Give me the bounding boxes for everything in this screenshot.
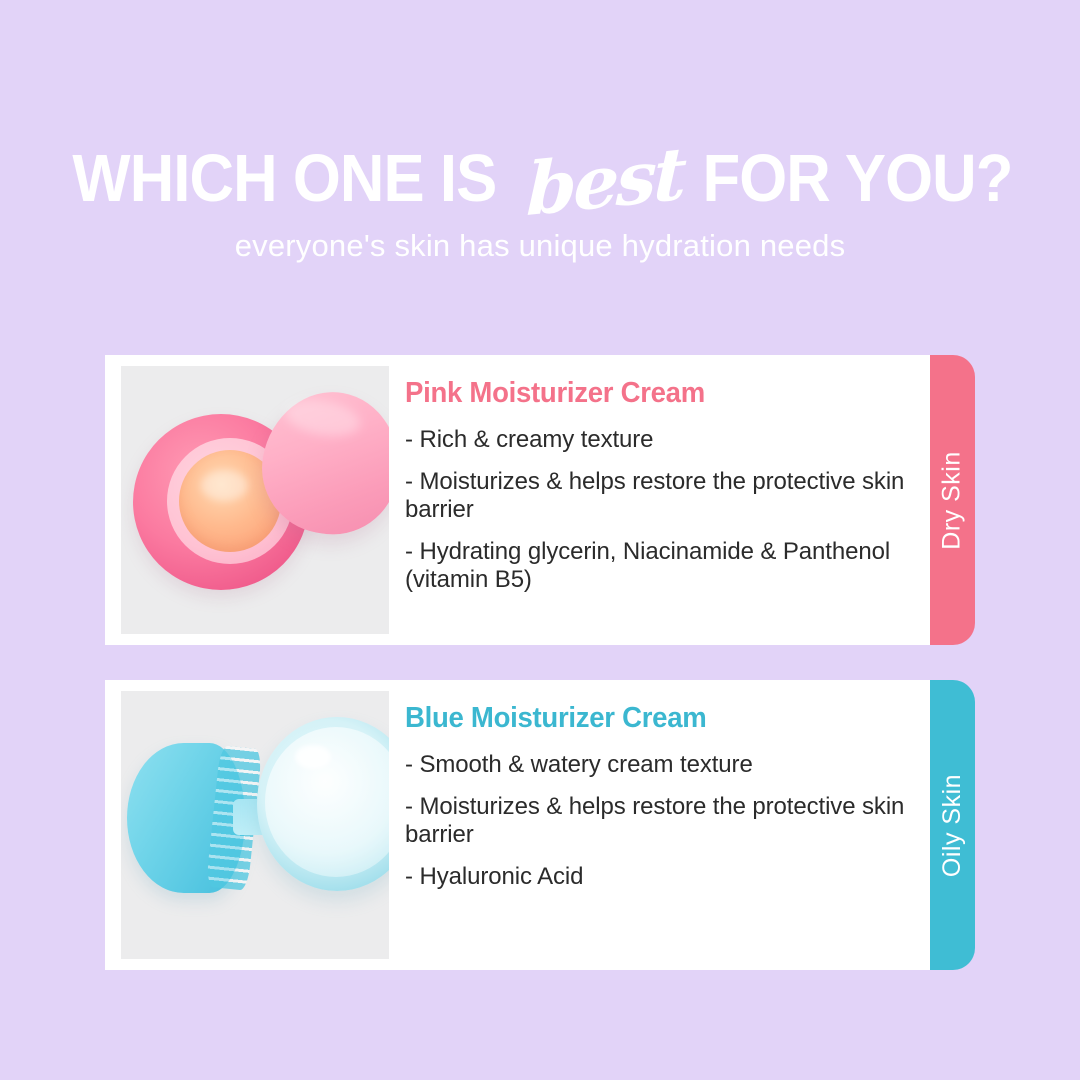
product-bullet: - Moisturizes & helps restore the protec… xyxy=(405,793,910,849)
page-headline: WHICH ONE ISbestFOR YOU? xyxy=(0,140,1080,212)
card-content: Pink Moisturizer Cream - Rich & creamy t… xyxy=(389,355,930,608)
skin-type-tab-label: Dry Skin xyxy=(938,451,967,549)
skin-type-tab-dry: Dry Skin xyxy=(930,355,975,645)
product-card-blue: Blue Moisturizer Cream - Smooth & watery… xyxy=(105,680,975,970)
headline-part-two: FOR YOU? xyxy=(702,145,1012,212)
product-bullet: - Smooth & watery cream texture xyxy=(405,751,910,779)
headline-part-one: WHICH ONE IS xyxy=(73,145,497,212)
product-title: Blue Moisturizer Cream xyxy=(405,702,885,735)
product-bullet: - Hyaluronic Acid xyxy=(405,863,910,891)
product-bullet: - Rich & creamy texture xyxy=(405,426,910,454)
card-content: Blue Moisturizer Cream - Smooth & watery… xyxy=(389,680,930,905)
product-title: Pink Moisturizer Cream xyxy=(405,377,885,410)
blue-jar-open xyxy=(257,717,389,891)
page-subtitle: everyone's skin has unique hydration nee… xyxy=(0,228,1080,264)
pink-jar-photo xyxy=(121,366,389,634)
card-body: Pink Moisturizer Cream - Rich & creamy t… xyxy=(105,355,930,645)
skin-type-tab-label: Oily Skin xyxy=(938,773,967,876)
headline-script-word: best xyxy=(525,137,685,226)
product-card-pink: Pink Moisturizer Cream - Rich & creamy t… xyxy=(105,355,975,645)
product-bullet: - Moisturizes & helps restore the protec… xyxy=(405,468,910,524)
skin-type-tab-oily: Oily Skin xyxy=(930,680,975,970)
header-section: WHICH ONE ISbestFOR YOU? everyone's skin… xyxy=(0,0,1080,300)
card-body: Blue Moisturizer Cream - Smooth & watery… xyxy=(105,680,930,970)
product-bullet: - Hydrating glycerin, Niacinamide & Pant… xyxy=(405,538,910,594)
blue-jar-photo xyxy=(121,691,389,959)
